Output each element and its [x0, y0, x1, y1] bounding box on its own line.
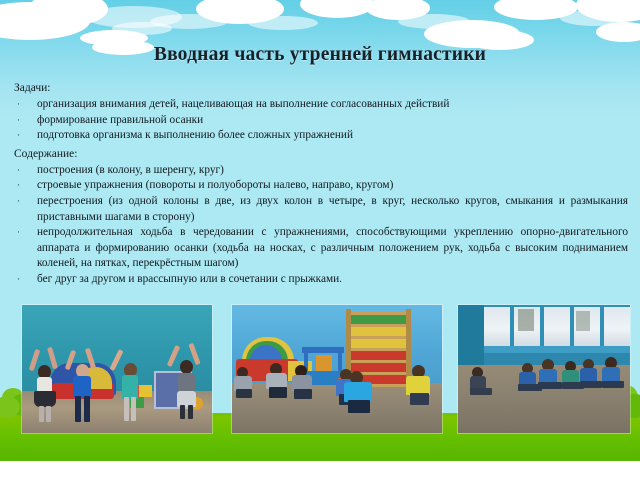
list-item-text: организация внимания детей, нацеливающая… — [37, 97, 628, 113]
list-item: · бег друг за другом и врассыпную или в … — [14, 272, 628, 288]
list-item: · подготовка организма к выполнению боле… — [14, 128, 628, 144]
child-figure — [174, 347, 204, 417]
child-figure — [602, 357, 628, 395]
child-figure — [234, 367, 258, 401]
list-item-text: формирование правильной осанки — [37, 113, 628, 129]
child-figure — [406, 365, 436, 409]
photo-children-by-windows — [458, 305, 630, 433]
bullet-marker-icon: · — [14, 113, 37, 129]
list-item: · формирование правильной осанки — [14, 113, 628, 129]
bullet-marker-icon: · — [14, 225, 37, 241]
wall-bars-rung — [350, 351, 408, 360]
window-mullion — [600, 307, 604, 347]
bullet-marker-icon: · — [14, 272, 37, 288]
window-tree — [518, 309, 534, 331]
window-mullion — [540, 307, 544, 347]
list-item-text: строевые упражнения (повороты и полуобор… — [37, 178, 628, 194]
wall-bars-rung — [350, 339, 408, 348]
list-item: · перестроения (из одной колоны в две, и… — [14, 194, 628, 225]
child-figure — [470, 367, 496, 401]
section-heading-content: Содержание: — [14, 146, 640, 162]
child-figure — [292, 365, 318, 403]
slide-title: Вводная часть утренней гимнастики — [0, 44, 640, 66]
window-mullion — [510, 307, 514, 347]
child-figure — [118, 349, 146, 417]
child-figure — [34, 351, 60, 417]
list-item-text: построения (в колону, в шеренгу, круг) — [37, 163, 628, 179]
photo-children-crouching-gym — [232, 305, 442, 433]
slide-footer-strip — [0, 461, 640, 480]
list-item: · построения (в колону, в шеренгу, круг) — [14, 163, 628, 179]
list-item: · организация внимания детей, нацеливающ… — [14, 97, 628, 113]
slide-canvas: Вводная часть утренней гимнастики Задачи… — [0, 0, 640, 480]
list-item: · непродолжительная ходьба в чередовании… — [14, 225, 628, 272]
section-heading-tasks: Задачи: — [14, 80, 640, 96]
cloud-icon — [248, 16, 318, 30]
list-item-text: непродолжительная ходьба в чередовании с… — [37, 225, 628, 272]
child-figure — [344, 371, 378, 417]
wall-bars-rung — [350, 315, 408, 324]
list-item: · строевые упражнения (повороты и полуоб… — [14, 178, 628, 194]
window-mullion — [570, 307, 574, 347]
child-figure — [266, 363, 294, 403]
window-tree — [576, 311, 590, 331]
list-item-text: подготовка организма к выполнению более … — [37, 128, 628, 144]
list-item-text: бег друг за другом и врассыпную или в со… — [37, 272, 628, 288]
wall-bars-rung — [350, 327, 408, 336]
bullet-marker-icon: · — [14, 194, 37, 210]
window-band — [484, 307, 630, 347]
list-item-text: перестроения (из одной колоны в две, из … — [37, 194, 628, 225]
bullet-marker-icon: · — [14, 128, 37, 144]
bullet-marker-icon: · — [14, 97, 37, 113]
slide-body: Задачи: · организация внимания детей, на… — [0, 80, 640, 288]
child-figure — [70, 351, 100, 417]
photo-children-raised-arms — [22, 305, 212, 433]
window-sill — [482, 346, 630, 353]
bullet-marker-icon: · — [14, 178, 37, 194]
bullet-marker-icon: · — [14, 163, 37, 179]
